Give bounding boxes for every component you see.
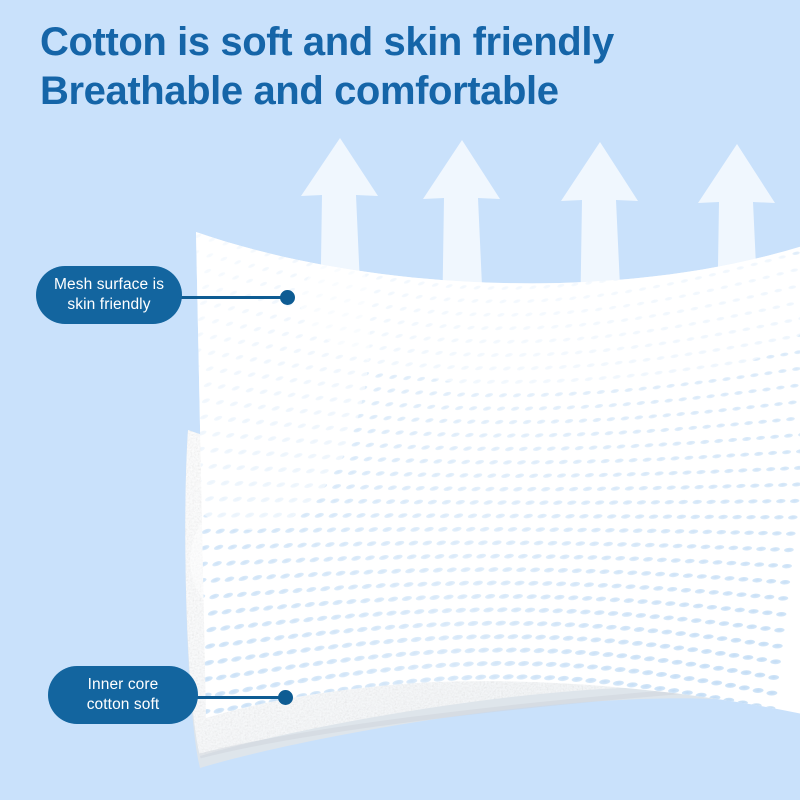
- callout-mesh-surface[interactable]: Mesh surface is skin friendly: [36, 266, 182, 324]
- headline-line-1: Cotton is soft and skin friendly: [40, 18, 740, 67]
- callout-core-line-2: cotton soft: [66, 695, 180, 715]
- mesh-callout-leader-line: [170, 296, 288, 299]
- headline: Cotton is soft and skin friendly Breatha…: [40, 18, 740, 116]
- headline-line-2: Breathable and comfortable: [40, 67, 740, 116]
- callout-mesh-line-1: Mesh surface is: [54, 275, 164, 295]
- core-callout-anchor-dot: [278, 690, 293, 705]
- mesh-callout-anchor-dot: [280, 290, 295, 305]
- callout-inner-core[interactable]: Inner core cotton soft: [48, 666, 198, 724]
- product-feature-graphic: Cotton is soft and skin friendly Breatha…: [0, 0, 800, 800]
- callout-core-line-1: Inner core: [66, 675, 180, 695]
- callout-mesh-line-2: skin friendly: [54, 295, 164, 315]
